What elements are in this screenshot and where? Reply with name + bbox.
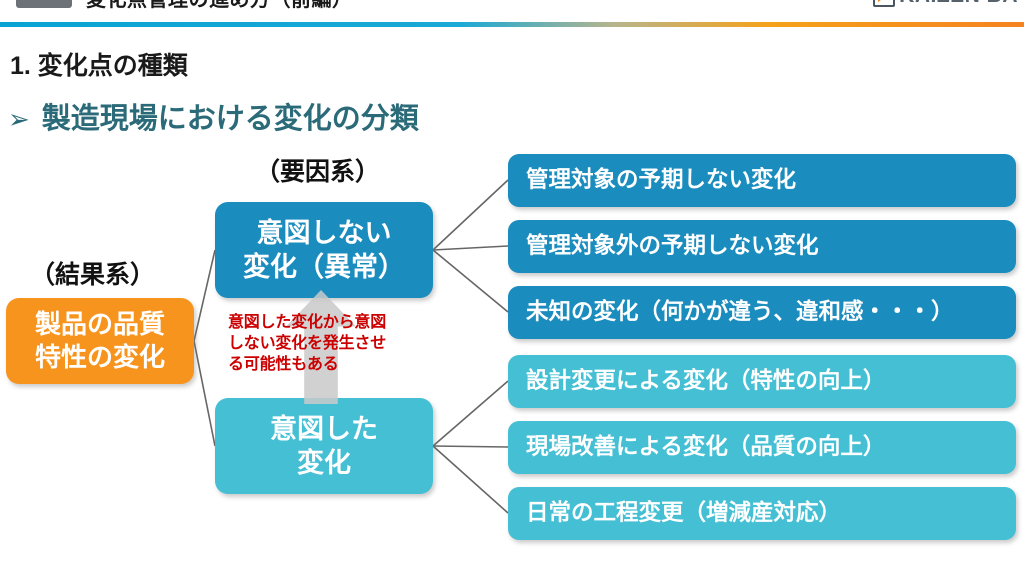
- brand-logo-text: KAIZEN BA: [899, 0, 1018, 8]
- header-badge: [16, 0, 72, 8]
- node-product-quality-change[interactable]: 製品の品質 特性の変化: [6, 298, 194, 384]
- header-title: 変化点管理の進め方（前編）: [86, 0, 353, 12]
- node-unintended-change[interactable]: 意図しない 変化（異常）: [215, 202, 433, 298]
- note-annotation: 意図した変化から意図 しない変化を発生させ る可能性もある: [228, 313, 418, 375]
- slide-header: 変化点管理の進め方（前編） KAIZEN BA: [0, 0, 1024, 22]
- slide-canvas: 変化点管理の進め方（前編） KAIZEN BA 1. 変化点の種類 ➢ 製造現場…: [0, 0, 1024, 576]
- brand-logo: KAIZEN BA: [873, 0, 1018, 8]
- kaizen-base-logo-icon: [873, 0, 895, 7]
- cause-group-label: （要因系）: [255, 152, 380, 188]
- node-intended-change[interactable]: 意図した 変化: [215, 398, 433, 494]
- leaf-unintended-1[interactable]: 管理対象外の予期しない変化: [508, 220, 1016, 273]
- leaf-intended-1[interactable]: 現場改善による変化（品質の向上）: [508, 421, 1016, 474]
- leaf-intended-2[interactable]: 日常の工程変更（増減産対応）: [508, 487, 1016, 540]
- page-title: 1. 変化点の種類: [10, 46, 188, 82]
- effect-group-label: （結果系）: [30, 255, 155, 291]
- leaf-intended-0[interactable]: 設計変更による変化（特性の向上）: [508, 355, 1016, 408]
- header-divider: [0, 22, 1024, 27]
- leaf-unintended-2[interactable]: 未知の変化（何かが違う、違和感・・・）: [508, 286, 1016, 339]
- change-classification-diagram: （要因系） （結果系） 製品の品質 特性の変化 意図しない 変化（異常） 意図し…: [0, 130, 1024, 560]
- leaf-unintended-0[interactable]: 管理対象の予期しない変化: [508, 154, 1016, 207]
